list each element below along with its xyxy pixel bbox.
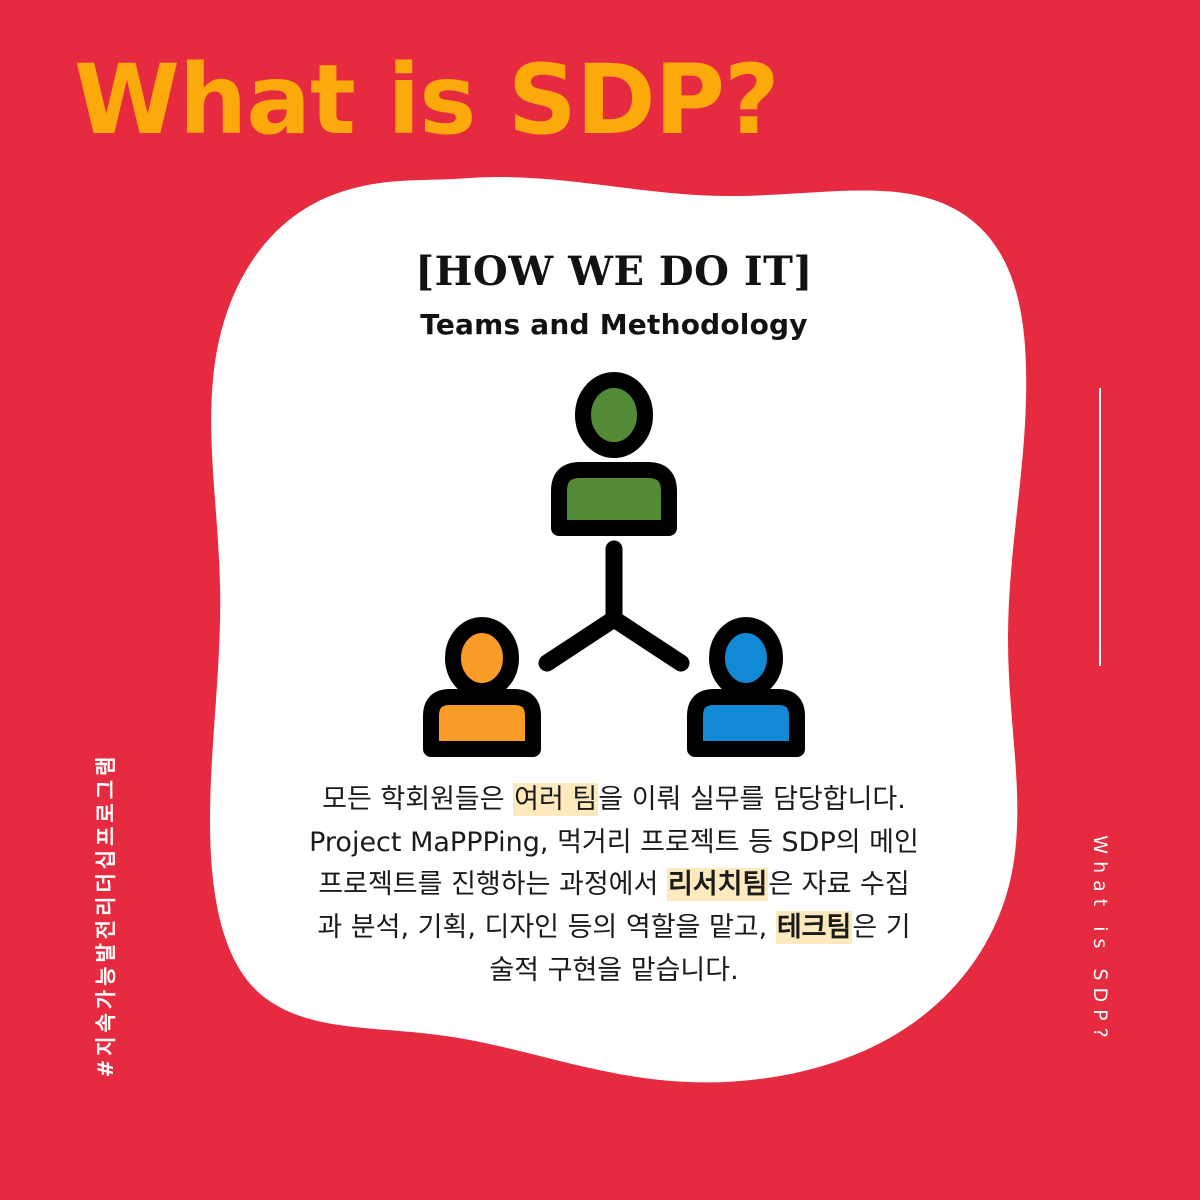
right-rail-label: What is SDP?	[1089, 835, 1111, 1044]
body-line: 모든 학회원들은 여러 팀을 이뤄 실무를 담당합니다.	[238, 779, 990, 822]
right-rail: What is SDP?	[1080, 800, 1120, 1080]
body-text-run: 은 기	[852, 912, 910, 943]
body-text-run: Project MaPPPing, 먹거리 프로젝트 등 SDP의 메인	[309, 827, 919, 858]
person-left-icon	[431, 625, 533, 749]
team-structure-diagram	[414, 371, 814, 761]
card-kicker: [HOW WE DO IT]	[228, 250, 1000, 294]
body-line: 프로젝트를 진행하는 과정에서 리서치팀은 자료 수집	[238, 864, 990, 907]
left-rail: #지속가능발전리더십프로그램	[85, 685, 125, 1145]
body-text-run: 을 이뤄 실무를 담당합니다.	[598, 784, 906, 815]
body-line: 술적 구현을 맡습니다.	[238, 950, 990, 993]
body-text-run: 술적 구현을 맡습니다.	[489, 955, 738, 986]
highlighted-term: 테크팀	[776, 911, 853, 944]
card-content: [HOW WE DO IT] Teams and Methodology	[228, 250, 1000, 992]
body-text-run: 프로젝트를 진행하는 과정에서	[318, 869, 667, 900]
right-divider-line	[1099, 388, 1101, 666]
body-text-run: 과 분석, 기획, 디자인 등의 역할을 맡고,	[317, 912, 775, 943]
card-subtitle: Teams and Methodology	[228, 308, 1000, 341]
page-title: What is SDP?	[74, 52, 779, 148]
card-body-text: 모든 학회원들은 여러 팀을 이뤄 실무를 담당합니다.Project MaPP…	[228, 779, 1000, 992]
body-line: Project MaPPPing, 먹거리 프로젝트 등 SDP의 메인	[238, 822, 990, 865]
body-line: 과 분석, 기획, 디자인 등의 역할을 맡고, 테크팀은 기	[238, 907, 990, 950]
body-text-run: 모든 학회원들은	[322, 784, 513, 815]
y-shaped-connector	[547, 549, 681, 663]
person-right-icon	[695, 625, 797, 749]
highlighted-term: 리서치팀	[667, 868, 768, 901]
body-text-run: 은 자료 수집	[768, 869, 909, 900]
highlighted-term: 여러 팀	[513, 783, 598, 816]
person-top-icon	[559, 380, 669, 528]
left-rail-label: #지속가능발전리더십프로그램	[90, 753, 120, 1078]
